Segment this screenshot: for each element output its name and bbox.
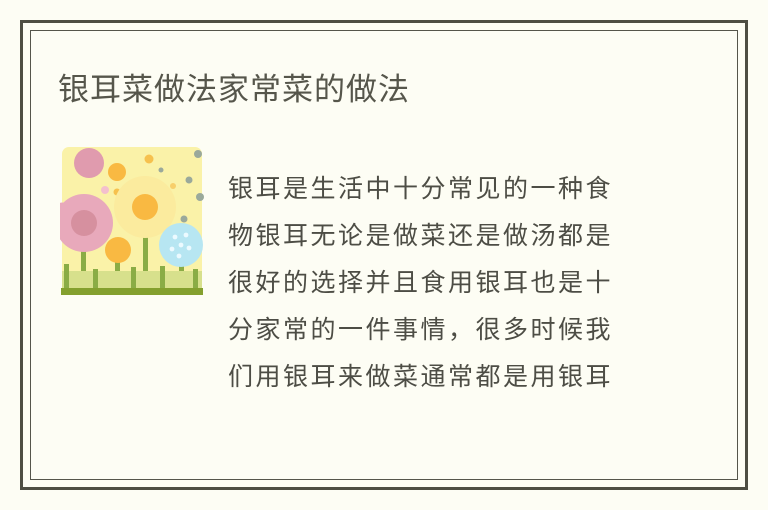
flower-blue-dot-4 [170, 247, 175, 252]
flower-orange-small [105, 237, 131, 263]
flower-blue-dot-3 [179, 243, 184, 248]
flower-orange-tiny [108, 163, 126, 181]
flower-pink-center [71, 210, 97, 236]
grass-blade [193, 269, 198, 289]
grass-blade [131, 267, 136, 289]
flower-pink-small [74, 148, 104, 178]
grass-blade [64, 264, 69, 289]
article-body: 银耳是生活中十分常见的一种食 物银耳无论是做菜还是做汤都是 很好的选择并且食用银… [228, 165, 658, 400]
decor-dot-teal-4 [181, 216, 188, 223]
flower-yellow-center [132, 194, 158, 220]
grass-blade [93, 269, 98, 289]
flower-blue-dot-5 [187, 246, 192, 251]
flower-blue-dot-1 [173, 235, 178, 240]
decor-dot-orange-top [145, 155, 154, 164]
grass-blade [160, 266, 165, 289]
body-line: 分家常的一件事情，很多时候我 [228, 306, 658, 353]
decor-dot-teal-2 [186, 177, 193, 184]
body-line: 很好的选择并且食用银耳也是十 [228, 259, 658, 306]
ground-baseline [61, 288, 203, 295]
decor-dot-teal-3 [196, 193, 204, 201]
decor-dot-orange-right [170, 183, 176, 189]
body-line: 们用银耳来做菜通常都是用银耳 [228, 353, 658, 400]
flower-blue-dot-6 [177, 254, 182, 259]
flower-blue-dot-2 [184, 233, 189, 238]
page-title: 银耳菜做法家常菜的做法 [58, 70, 410, 110]
flower-garden-illustration [60, 145, 210, 305]
decor-dot-teal-1 [194, 150, 202, 158]
body-line: 物银耳无论是做菜还是做汤都是 [228, 212, 658, 259]
article-card: 银耳菜做法家常菜的做法 [0, 0, 768, 510]
decor-dot-teal-5 [159, 168, 164, 173]
decor-dot-pink-small [101, 186, 109, 194]
body-line: 银耳是生活中十分常见的一种食 [228, 165, 658, 212]
